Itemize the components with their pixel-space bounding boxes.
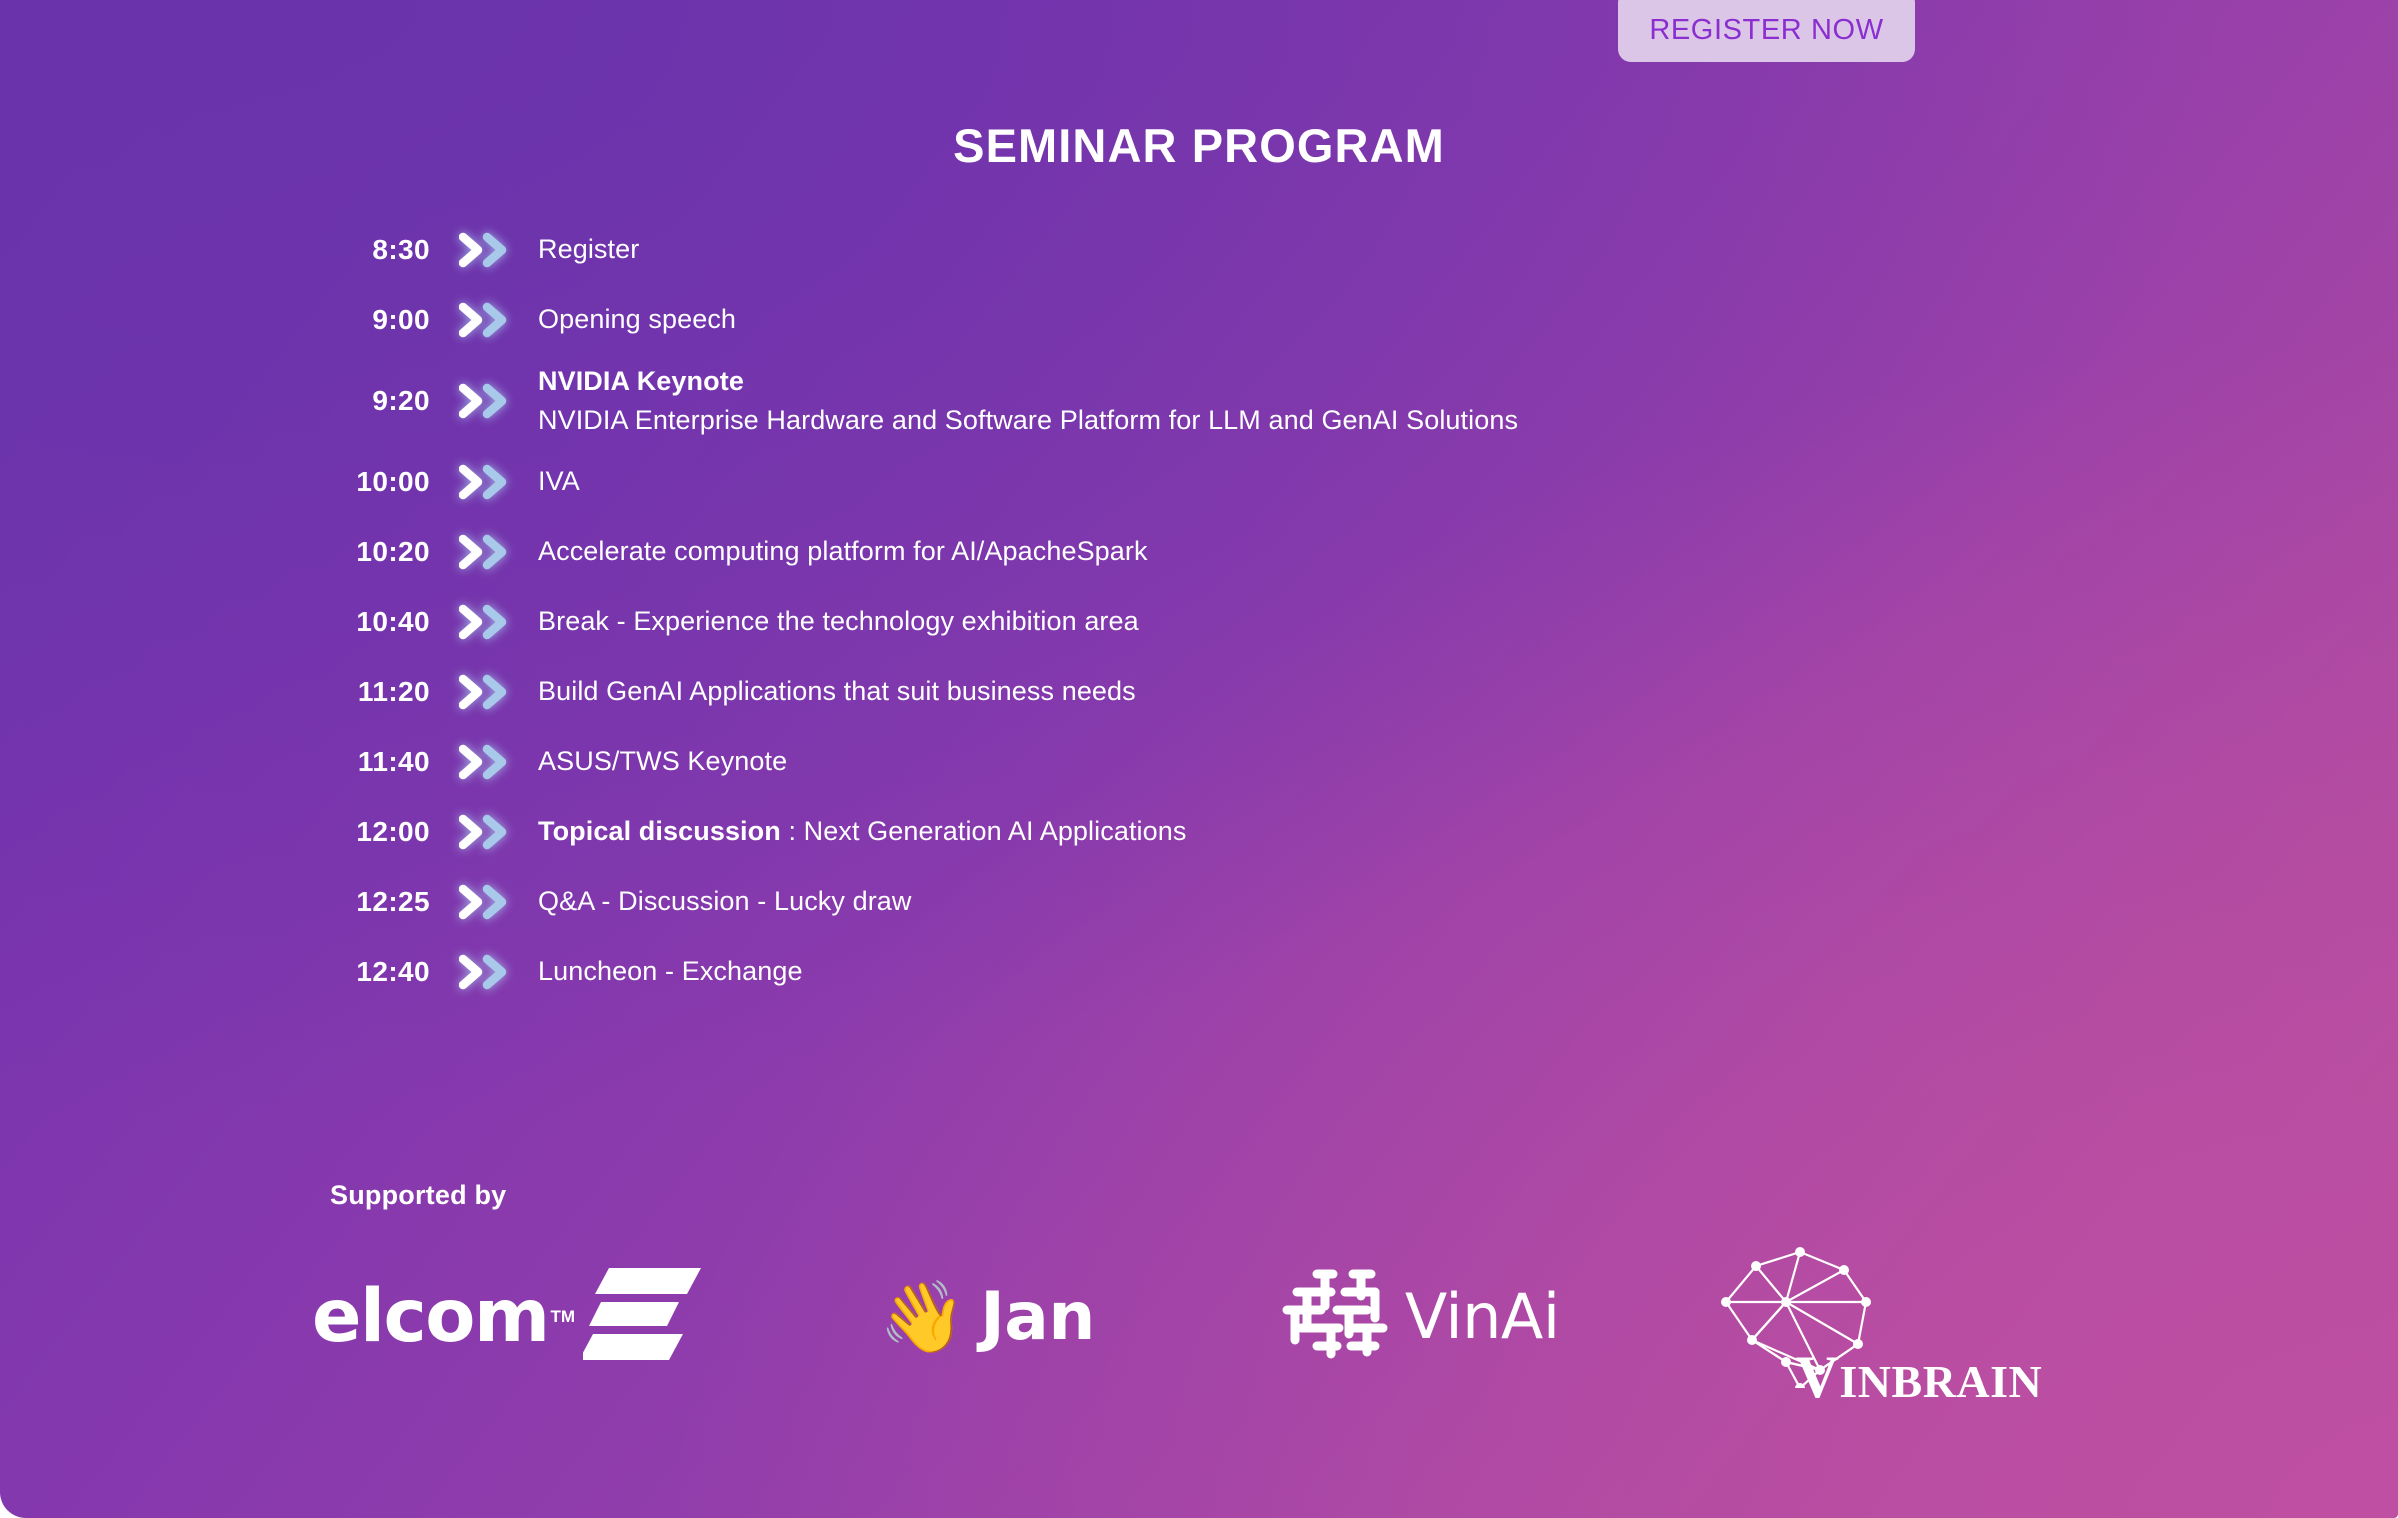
schedule-row: 11:40 ASUS/TWS Keynote <box>0 727 2398 797</box>
schedule-row: 9:00 Opening speech <box>0 285 2398 355</box>
double-chevron-icon <box>448 882 526 922</box>
sponsor-logo-elcom: elcom TM <box>312 1266 701 1367</box>
vinbrain-wordmark: VINBRAIN <box>1796 1347 2043 1407</box>
register-now-button[interactable]: REGISTER NOW <box>1618 0 1915 62</box>
schedule-title: Topical discussion <box>538 816 781 846</box>
schedule-row: 10:40 Break - Experience the technology … <box>0 587 2398 657</box>
schedule-description: NVIDIA KeynoteNVIDIA Enterprise Hardware… <box>538 362 1518 441</box>
seminar-program-page: REGISTER NOW SEMINAR PROGRAM 8:30 Regist… <box>0 0 2398 1518</box>
schedule-title: Luncheon - Exchange <box>538 956 803 986</box>
schedule-title: Register <box>538 234 639 264</box>
sponsor-logo-vinbrain: VINBRAIN <box>1708 1240 1904 1393</box>
schedule-time: 11:20 <box>0 676 430 708</box>
schedule-description: IVA <box>538 462 580 501</box>
schedule-time: 11:40 <box>0 746 430 778</box>
double-chevron-icon <box>448 672 526 712</box>
schedule-description: Luncheon - Exchange <box>538 952 803 991</box>
sponsor-logo-vinai: VinAi <box>1275 1262 1560 1371</box>
schedule-description: Q&A - Discussion - Lucky draw <box>538 882 912 921</box>
elcom-e-mark <box>583 1266 701 1367</box>
schedule-row: 12:25 Q&A - Discussion - Lucky draw <box>0 867 2398 937</box>
schedule-row: 10:20 Accelerate computing platform for … <box>0 517 2398 587</box>
schedule-row: 8:30 Register <box>0 215 2398 285</box>
schedule-row: 12:00 Topical discussion : Next Generati… <box>0 797 2398 867</box>
double-chevron-icon <box>448 230 526 270</box>
schedule-title: Break - Experience the technology exhibi… <box>538 606 1139 636</box>
double-chevron-icon <box>448 381 526 421</box>
double-chevron-icon <box>448 812 526 852</box>
schedule-time: 9:20 <box>0 385 430 417</box>
schedule-title: Build GenAI Applications that suit busin… <box>538 676 1136 706</box>
schedule-time: 12:40 <box>0 956 430 988</box>
waving-hand-icon: 👋 <box>879 1282 966 1352</box>
double-chevron-icon <box>448 742 526 782</box>
schedule-description: Break - Experience the technology exhibi… <box>538 602 1139 641</box>
schedule-title: Accelerate computing platform for AI/Apa… <box>538 536 1148 566</box>
sponsor-logo-row: elcom TM 👋 Jan <box>300 1240 2200 1393</box>
schedule-row: 12:40 Luncheon - Exchange <box>0 937 2398 1007</box>
schedule-description: Accelerate computing platform for AI/Apa… <box>538 532 1148 571</box>
schedule-time: 8:30 <box>0 234 430 266</box>
schedule-time: 12:25 <box>0 886 430 918</box>
schedule-description: Register <box>538 230 639 269</box>
elcom-wordmark: elcom <box>312 1280 549 1353</box>
schedule-title: ASUS/TWS Keynote <box>538 746 787 776</box>
schedule-subtitle: NVIDIA Enterprise Hardware and Software … <box>538 405 1518 435</box>
double-chevron-icon <box>448 952 526 992</box>
vinai-circuit-icon <box>1275 1262 1391 1371</box>
schedule-list: 8:30 Register9:00 Opening speech9:20 NVI… <box>0 215 2398 1007</box>
schedule-title: Opening speech <box>538 304 736 334</box>
schedule-description: ASUS/TWS Keynote <box>538 742 787 781</box>
schedule-row: 10:00 IVA <box>0 447 2398 517</box>
trademark-icon: TM <box>551 1307 576 1327</box>
schedule-time: 12:00 <box>0 816 430 848</box>
schedule-time: 9:00 <box>0 304 430 336</box>
vinbrain-rest: INBRAIN <box>1839 1356 2042 1407</box>
schedule-description: Opening speech <box>538 300 736 339</box>
schedule-title: NVIDIA Keynote <box>538 366 744 396</box>
schedule-row: 11:20 Build GenAI Applications that suit… <box>0 657 2398 727</box>
schedule-title: Q&A - Discussion - Lucky draw <box>538 886 912 916</box>
page-title: SEMINAR PROGRAM <box>0 118 2398 173</box>
schedule-title: IVA <box>538 466 580 496</box>
schedule-description: Build GenAI Applications that suit busin… <box>538 672 1136 711</box>
schedule-time: 10:00 <box>0 466 430 498</box>
sponsor-logo-jan: 👋 Jan <box>879 1282 1095 1352</box>
supported-by-label: Supported by <box>330 1180 506 1211</box>
double-chevron-icon <box>448 532 526 572</box>
schedule-description: Topical discussion : Next Generation AI … <box>538 812 1187 851</box>
double-chevron-icon <box>448 462 526 502</box>
vinai-wordmark: VinAi <box>1405 1286 1560 1348</box>
double-chevron-icon <box>448 300 526 340</box>
schedule-time: 10:20 <box>0 536 430 568</box>
vinbrain-initial: V <box>1796 1344 1840 1410</box>
double-chevron-icon <box>448 602 526 642</box>
schedule-time: 10:40 <box>0 606 430 638</box>
schedule-row: 9:20 NVIDIA KeynoteNVIDIA Enterprise Har… <box>0 355 2398 447</box>
schedule-title-suffix: : Next Generation AI Applications <box>781 816 1187 846</box>
jan-wordmark: Jan <box>980 1284 1095 1350</box>
